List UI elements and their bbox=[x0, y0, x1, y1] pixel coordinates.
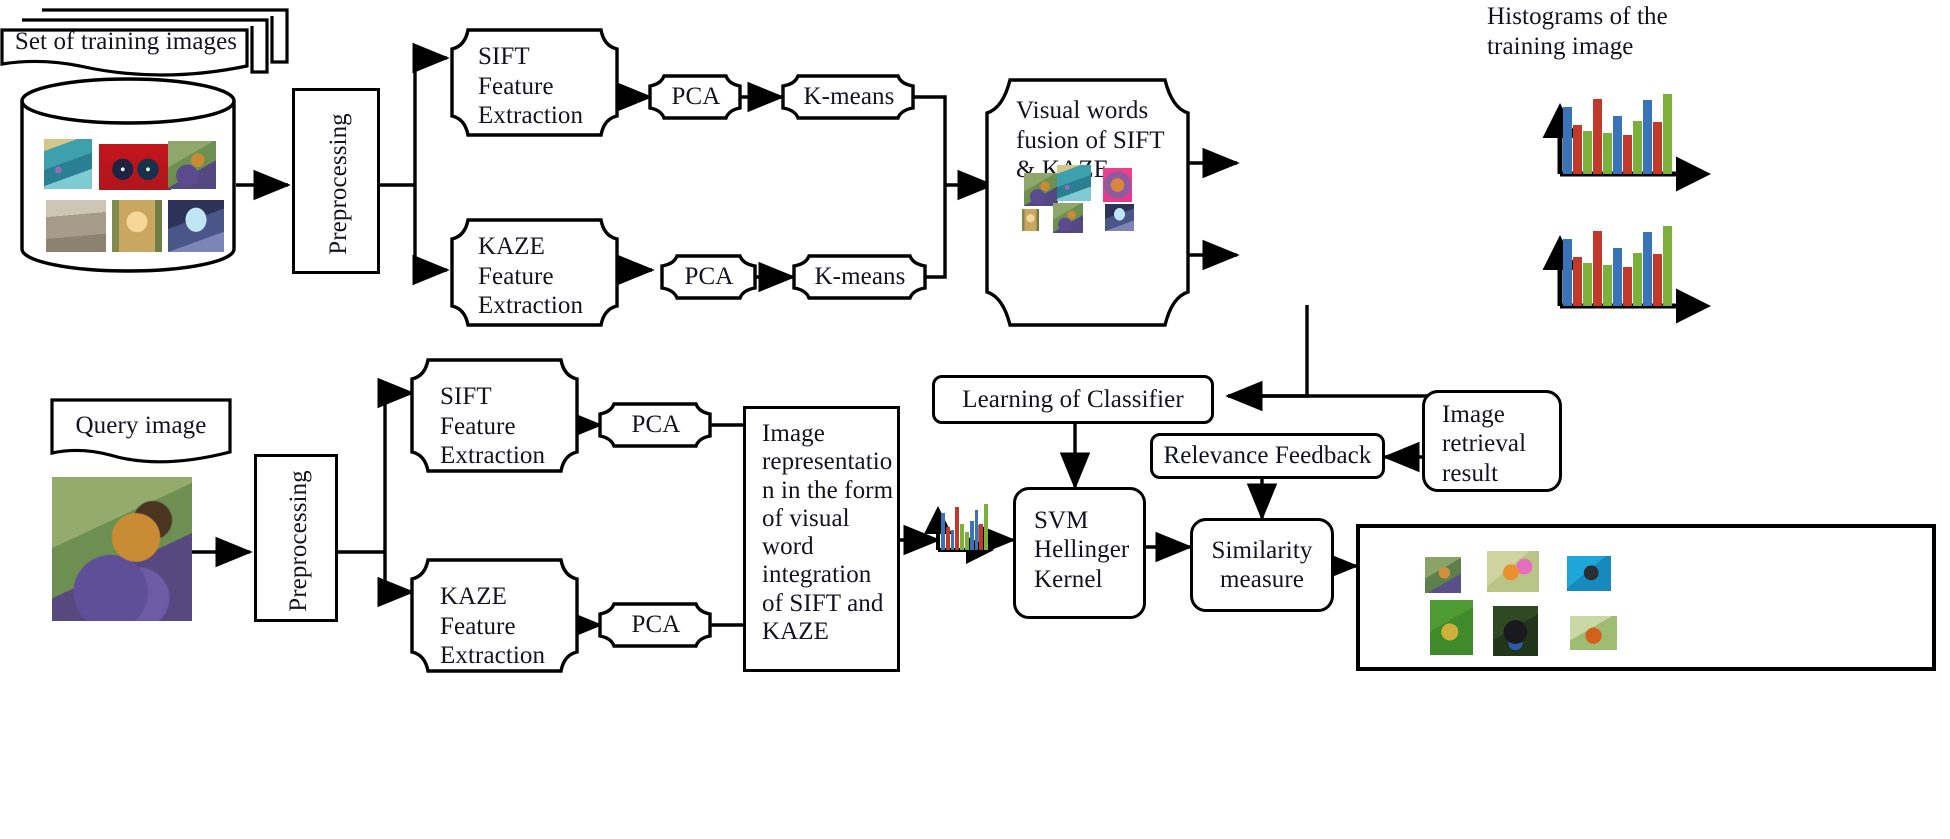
similarity-measure-label: Similarity measure bbox=[1190, 518, 1334, 612]
pca-bottom1-label: PCA bbox=[602, 408, 710, 442]
histogram-bar bbox=[984, 504, 988, 550]
histogram-bar bbox=[951, 530, 955, 550]
query-image-label: Query image bbox=[52, 408, 230, 444]
thumb-result-butterfly-orange-meadow[interactable] bbox=[1570, 616, 1617, 650]
learning-of-classifier-label: Learning of Classifier bbox=[962, 386, 1184, 414]
kaze-bottom-label: KAZE Feature Extraction bbox=[440, 582, 580, 677]
histogram-bar bbox=[979, 524, 983, 550]
thumb-result-butterfly-purple-flower[interactable] bbox=[1425, 557, 1461, 593]
image-representation-label: Image representatio n in the form of vis… bbox=[762, 420, 902, 670]
histogram-bar bbox=[965, 532, 969, 550]
thumb-result-butterfly-black-blue[interactable] bbox=[1493, 606, 1538, 656]
histogram-query-bars bbox=[941, 504, 989, 550]
histogram-query bbox=[930, 498, 1006, 560]
sift-bottom-label: SIFT Feature Extraction bbox=[440, 382, 580, 477]
svm-hellinger-kernel-label: SVM Hellinger Kernel bbox=[1034, 490, 1154, 610]
histogram-bar bbox=[955, 507, 959, 550]
histogram-bar bbox=[946, 527, 950, 550]
histogram-bar bbox=[960, 524, 964, 550]
learning-of-classifier-box[interactable]: Learning of Classifier bbox=[932, 375, 1214, 424]
thumb-result-butterfly-yellow-green[interactable] bbox=[1430, 600, 1473, 655]
relevance-feedback-box[interactable]: Relevance Feedback bbox=[1150, 433, 1385, 479]
flowchart-canvas: Set of training images Preprocessing SIF… bbox=[0, 0, 1950, 839]
thumb-query-butterfly-on-lavender bbox=[52, 477, 192, 621]
thumb-result-butterfly-blue-background[interactable] bbox=[1567, 556, 1611, 591]
preprocess-bottom-box[interactable]: Preprocessing bbox=[254, 454, 338, 622]
histogram-bar bbox=[975, 510, 979, 550]
image-retrieval-result-label: Image retrieval result bbox=[1442, 396, 1562, 492]
thumb-result-butterfly-orange-pink-flower[interactable] bbox=[1487, 551, 1539, 592]
preprocess-bottom-label: Preprocessing bbox=[284, 470, 314, 612]
relevance-feedback-label: Relevance Feedback bbox=[1164, 442, 1372, 470]
histogram-bar bbox=[970, 521, 974, 550]
histogram-bar bbox=[941, 513, 945, 550]
pca-bottom2-label: PCA bbox=[602, 608, 710, 642]
